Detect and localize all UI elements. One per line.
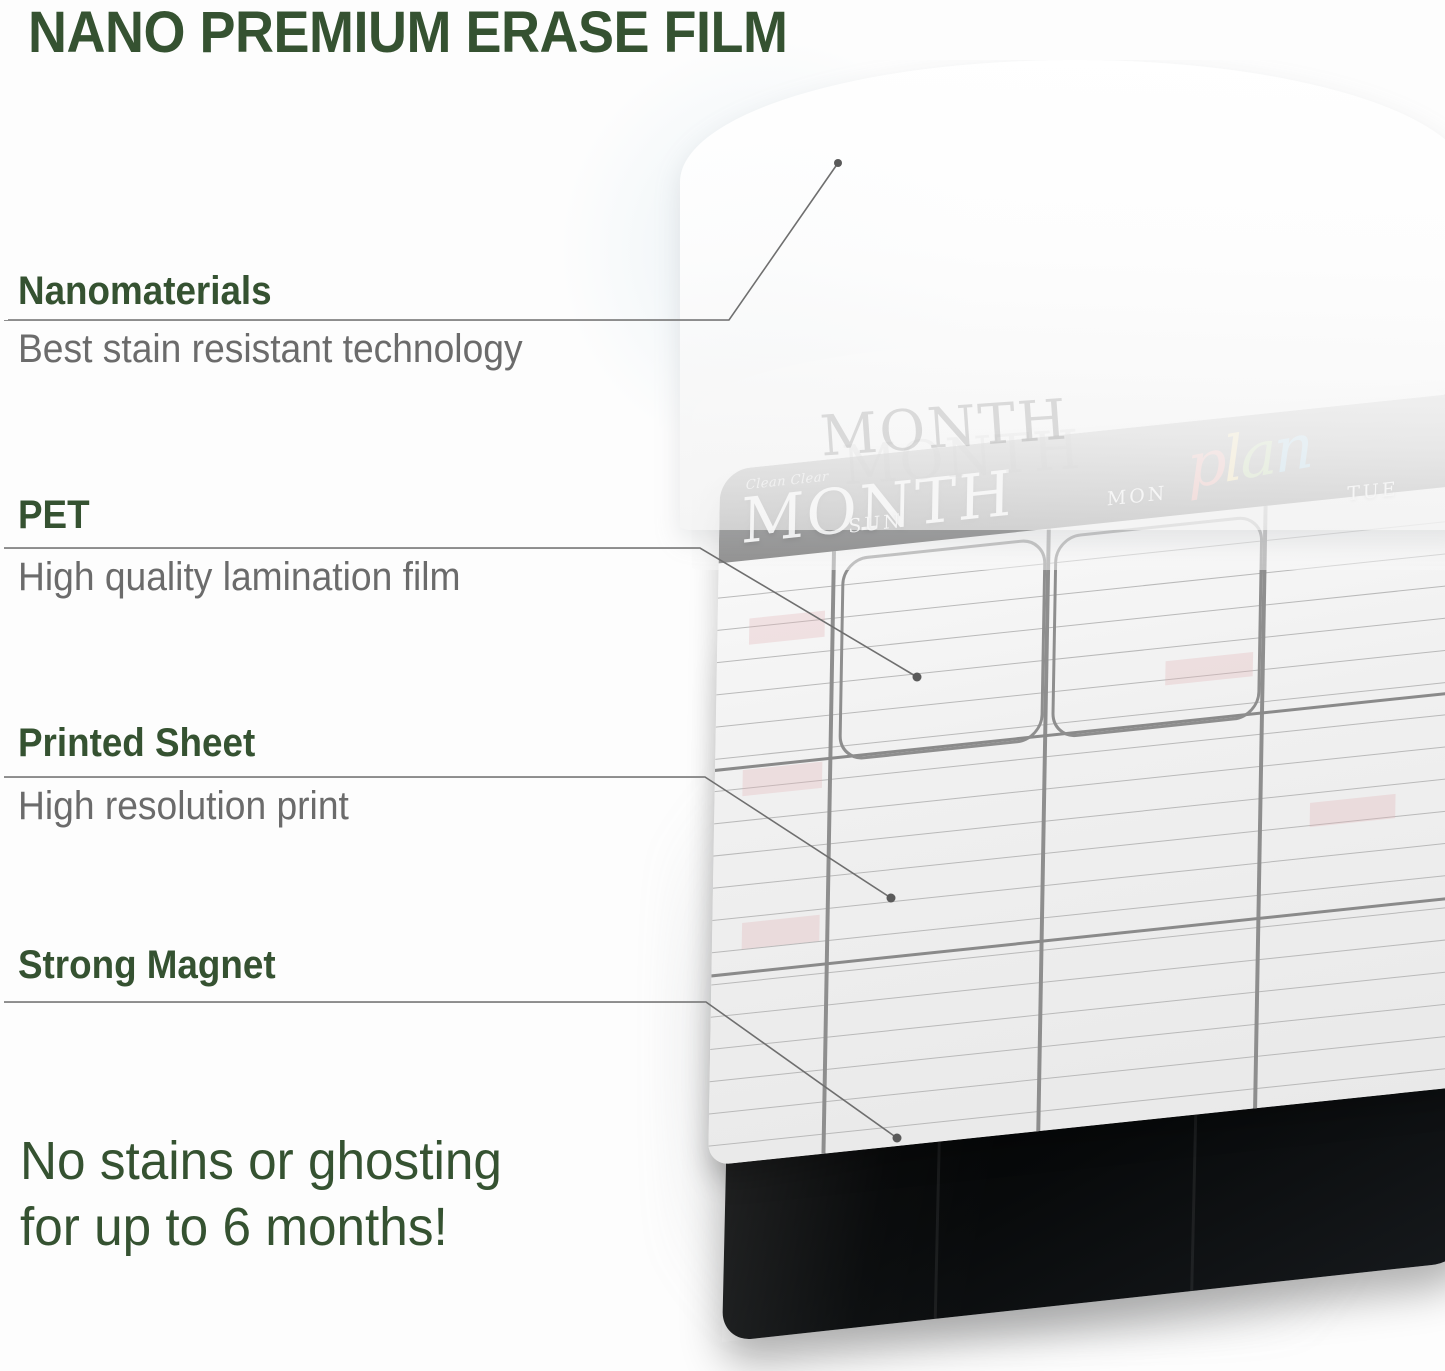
ghost-month-text-upper: MONTH <box>818 387 1070 469</box>
feature-subtitle: High quality lamination film <box>18 552 708 602</box>
calendar-cell-outline <box>838 537 1046 762</box>
note-block <box>749 611 825 645</box>
feature-title: PET <box>18 492 701 538</box>
tagline-line-1: No stains or ghosting <box>20 1128 502 1194</box>
tagline: No stains or ghosting for up to 6 months… <box>20 1128 502 1260</box>
feature-strong-magnet: Strong Magnet <box>0 942 760 988</box>
nano-film-layer: MONTH <box>680 60 1445 530</box>
feature-underline <box>4 548 700 549</box>
feature-title: Printed Sheet <box>18 720 701 766</box>
feature-underline <box>4 777 705 778</box>
feature-printed-sheet: Printed Sheet High resolution print <box>0 720 760 831</box>
page-title: NANO PREMIUM ERASE FILM <box>28 2 787 64</box>
feature-title: Strong Magnet <box>18 942 701 988</box>
feature-title: Nanomaterials <box>18 268 701 314</box>
product-photo: Clean Clear MONTH plan SUN MON TUE MONTH… <box>620 60 1445 1371</box>
feature-subtitle: Best stain resistant technology <box>18 324 708 374</box>
feature-underline <box>4 320 729 321</box>
feature-underline <box>4 1002 706 1003</box>
calendar-column-divider <box>821 551 836 1156</box>
calendar-week-divider <box>711 892 1445 978</box>
feature-nanomaterials: Nanomaterials Best stain resistant techn… <box>0 268 760 374</box>
feature-subtitle: High resolution print <box>18 781 708 831</box>
feature-pet: PET High quality lamination film <box>0 492 760 602</box>
infographic-page: Clean Clear MONTH plan SUN MON TUE MONTH… <box>0 0 1445 1371</box>
tagline-line-2: for up to 6 months! <box>20 1194 502 1260</box>
note-block <box>1310 794 1396 827</box>
